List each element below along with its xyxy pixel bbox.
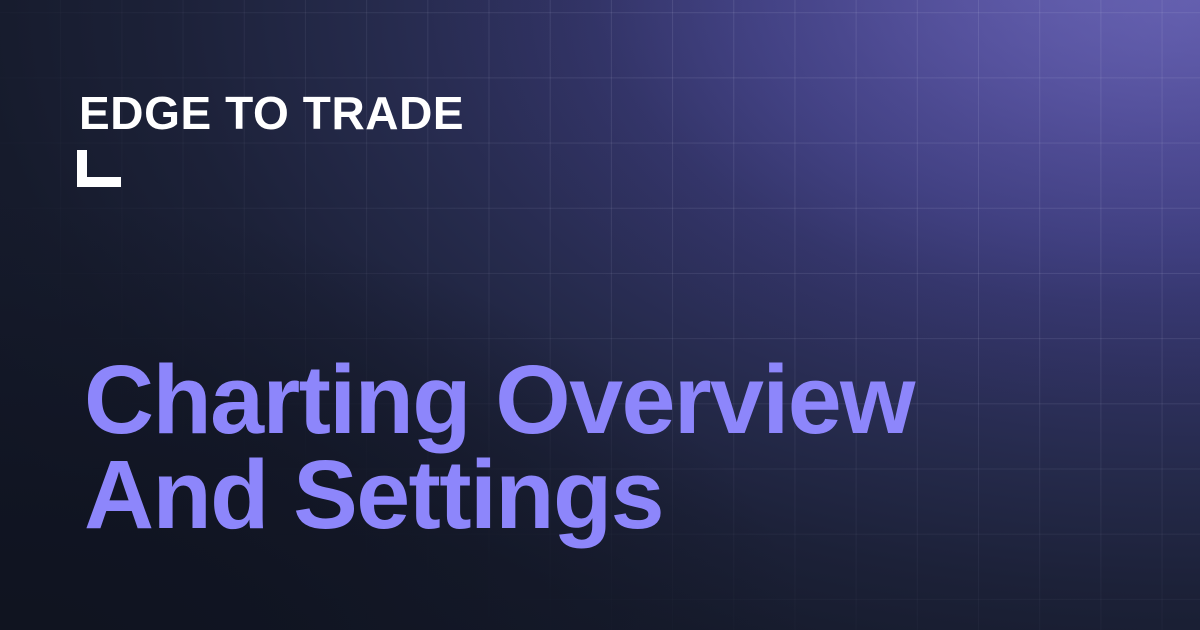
brand-lockup: EDGE TO TRADE (78, 86, 463, 142)
card-content: EDGE TO TRADE Charting Overview And Sett… (0, 0, 1200, 630)
page-title-line-1: Charting Overview (84, 352, 1084, 447)
page-title-line-2: And Settings (84, 447, 1084, 542)
og-card: EDGE TO TRADE Charting Overview And Sett… (0, 0, 1200, 630)
brand-name: EDGE TO TRADE (79, 90, 464, 136)
page-title: Charting Overview And Settings (84, 352, 1084, 542)
